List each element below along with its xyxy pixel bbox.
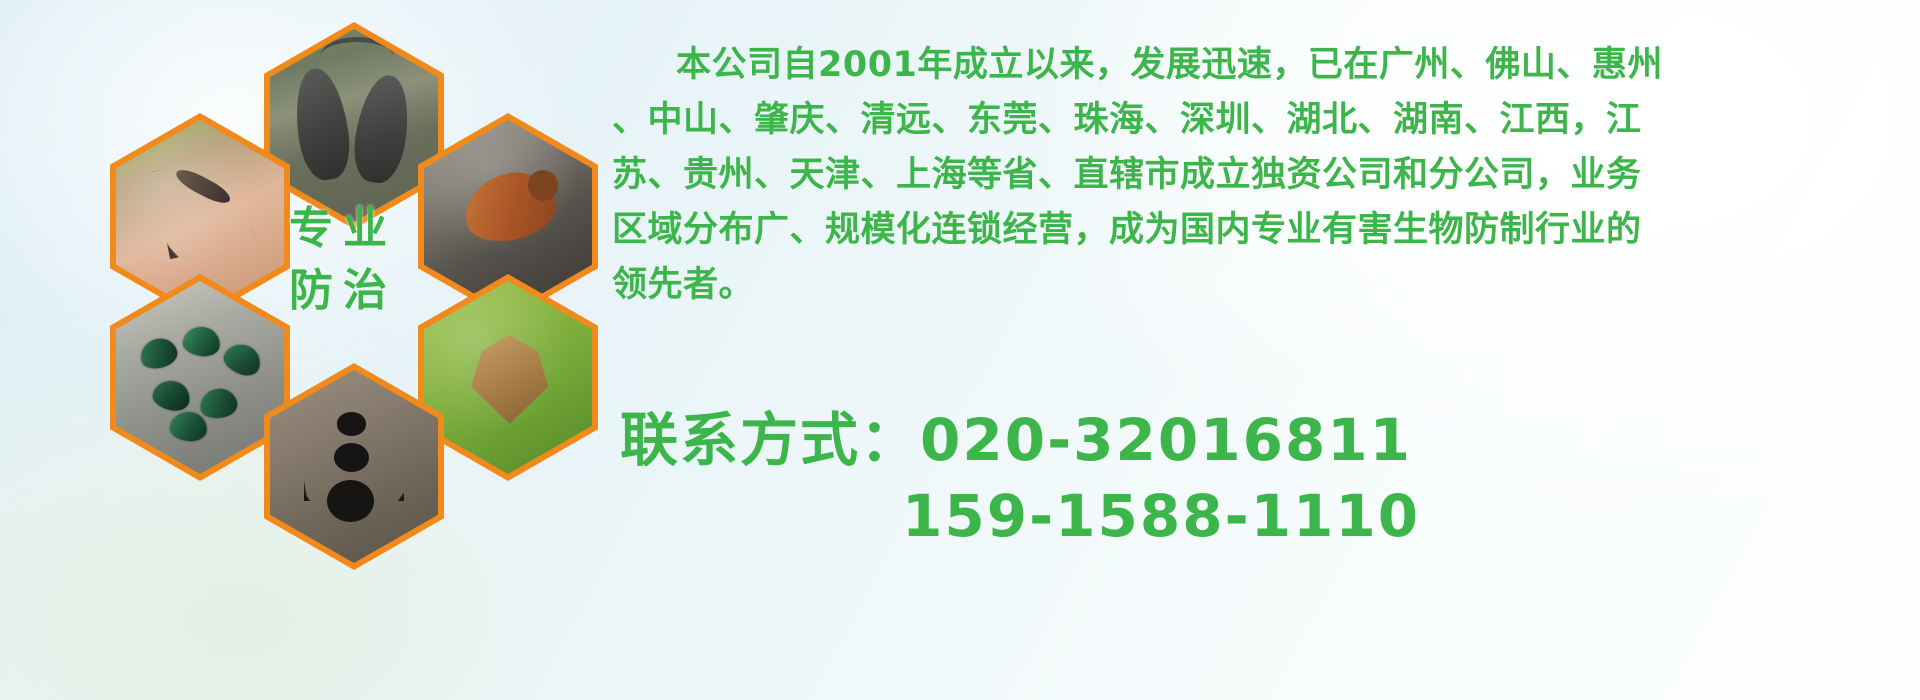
mosquito-body-shape xyxy=(173,165,235,209)
ant-legs-shape xyxy=(304,436,405,502)
stink-bug-photo xyxy=(424,281,592,474)
intro-line-2: 、中山、肇庆、清远、东莞、珠海、深圳、湖北、湖南、江西，江 xyxy=(612,93,1912,148)
hexagon-photo-cluster: 专业 防治 xyxy=(92,8,592,568)
stink-bug-photo-hexagon xyxy=(418,274,598,481)
contact-secondary-line: 159-1588-1110 xyxy=(620,478,1800,554)
ant-thorax-shape xyxy=(334,443,369,472)
intro-line-5: 领先者。 xyxy=(612,258,1912,313)
flies-photo-hexagon xyxy=(110,274,290,481)
contact-block: 联系方式：020-32016811 159-1588-1110 xyxy=(620,402,1800,554)
rat-body-left-shape xyxy=(289,65,354,183)
cockroach-head-shape xyxy=(525,167,562,204)
fly-shape xyxy=(150,378,192,414)
phone-secondary[interactable]: 159-1588-1110 xyxy=(902,482,1420,550)
rat-body-right-shape xyxy=(349,72,416,187)
badge-line-2: 防治 xyxy=(268,260,418,322)
ant-head-shape xyxy=(337,412,366,435)
intro-line-4: 区域分布广、规模化连锁经营，成为国内专业有害生物防制行业的 xyxy=(612,203,1912,258)
promo-banner: 专业 防治 本公司自2001年成立以来，发展迅速，已在广州、佛山、惠州 、中山、… xyxy=(0,0,1920,700)
rats-photo xyxy=(270,29,438,222)
fly-shape xyxy=(198,386,239,421)
company-intro-text: 本公司自2001年成立以来，发展迅速，已在广州、佛山、惠州 、中山、肇庆、清远、… xyxy=(612,38,1912,313)
fly-shape xyxy=(219,339,264,380)
intro-line-1: 本公司自2001年成立以来，发展迅速，已在广州、佛山、惠州 xyxy=(612,38,1912,93)
flies-photo xyxy=(116,281,284,474)
ant-abdomen-shape xyxy=(327,480,374,522)
hexagon-badge-label: 专业 防治 xyxy=(268,198,418,322)
ant-photo-hexagon xyxy=(264,363,444,570)
contact-label: 联系方式： xyxy=(620,406,920,474)
fly-shape xyxy=(182,325,222,358)
badge-line-1: 专业 xyxy=(268,198,418,260)
fly-shape xyxy=(169,411,208,442)
stink-bug-body-shape xyxy=(471,335,548,424)
phone-primary[interactable]: 020-32016811 xyxy=(920,406,1412,474)
mosquito-legs-shape xyxy=(151,154,255,259)
ant-photo xyxy=(270,370,438,563)
rat-tail-shape xyxy=(320,37,394,77)
contact-primary-line: 联系方式：020-32016811 xyxy=(620,402,1800,478)
intro-line-3: 苏、贵州、天津、上海等省、直辖市成立独资公司和分公司，业务 xyxy=(612,148,1912,203)
cockroach-body-shape xyxy=(458,164,562,250)
fly-shape xyxy=(136,334,180,373)
